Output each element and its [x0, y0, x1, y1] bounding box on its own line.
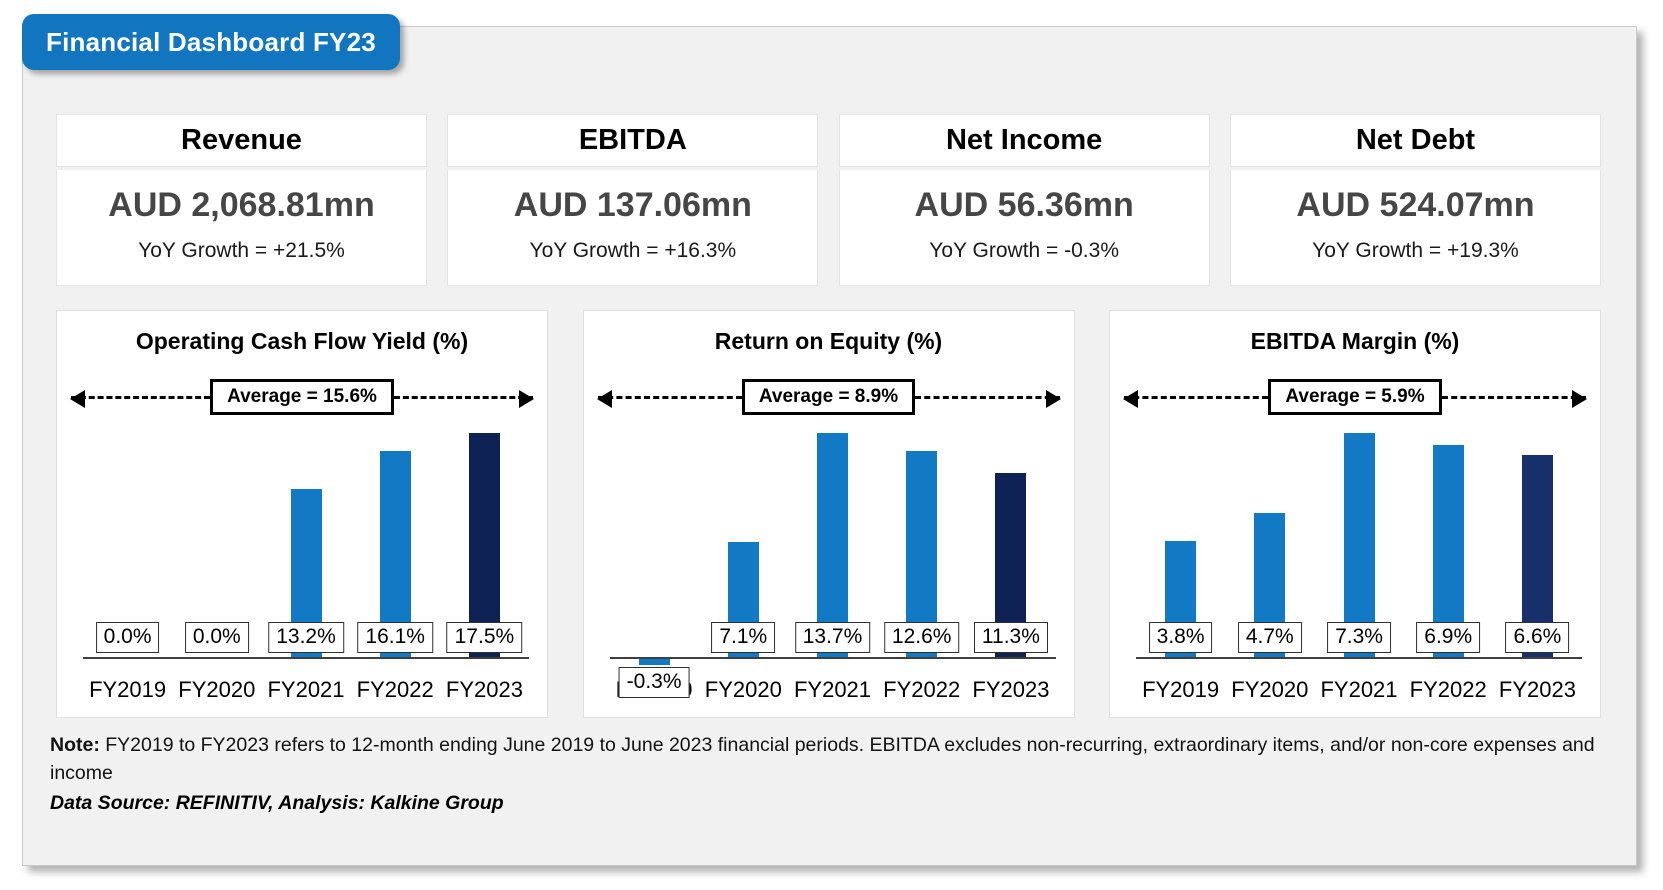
footnote-prefix: Note: — [50, 734, 100, 756]
average-line-right — [394, 396, 533, 399]
bar-value-label: 4.7% — [1238, 622, 1302, 653]
kpi-growth: YoY Growth = +21.5% — [138, 239, 345, 263]
kpi-title: Revenue — [181, 124, 302, 157]
x-axis-label: FY2023 — [966, 677, 1055, 703]
arrow-right-icon — [1572, 390, 1587, 408]
arrow-right-icon — [1046, 390, 1061, 408]
arrow-left-icon — [1123, 390, 1138, 408]
average-value-box: Average = 5.9% — [1268, 379, 1441, 415]
bar-value-label: 0.0% — [96, 622, 160, 653]
average-value-box: Average = 8.9% — [742, 379, 915, 415]
x-axis-label: FY2023 — [1493, 677, 1582, 703]
bar-slot: 17.5% — [440, 421, 529, 659]
chart-card: EBITDA Margin (%)Average = 5.9%3.8%4.7%7… — [1109, 310, 1601, 718]
kpi-growth: YoY Growth = -0.3% — [929, 239, 1119, 263]
kpi-header: Revenue — [56, 114, 427, 167]
average-annotation: Average = 15.6% — [71, 379, 533, 415]
bar — [639, 659, 670, 665]
kpi-title: EBITDA — [579, 124, 687, 157]
kpi-body: AUD 2,068.81mnYoY Growth = +21.5% — [56, 170, 427, 286]
x-axis-label: FY2022 — [1404, 677, 1493, 703]
kpi-title: Net Income — [946, 124, 1102, 157]
average-line-left — [71, 396, 210, 399]
footnote: Note: FY2019 to FY2023 refers to 12-mont… — [50, 732, 1610, 787]
kpi-card: RevenueAUD 2,068.81mnYoY Growth = +21.5% — [56, 114, 427, 286]
bar-slot: 7.3% — [1314, 421, 1403, 659]
chart-card-row: Operating Cash Flow Yield (%)Average = 1… — [56, 310, 1601, 718]
footnote-text: FY2019 to FY2023 refers to 12-month endi… — [50, 734, 1595, 784]
x-axis-label: FY2019 — [83, 677, 172, 703]
dashboard-root: Financial Dashboard FY23 RevenueAUD 2,06… — [0, 0, 1663, 890]
x-axis: FY2019FY2020FY2021FY2022FY2023 — [83, 677, 529, 703]
kpi-card-row: RevenueAUD 2,068.81mnYoY Growth = +21.5%… — [56, 114, 1601, 286]
average-line-left — [1124, 396, 1268, 399]
dashboard-title-tab: Financial Dashboard FY23 — [22, 14, 400, 70]
x-axis-label: FY2019 — [1136, 677, 1225, 703]
x-axis-label: FY2020 — [699, 677, 788, 703]
bar-value-label: 6.9% — [1416, 622, 1480, 653]
chart-title: Operating Cash Flow Yield (%) — [57, 328, 547, 355]
x-axis-label: FY2021 — [788, 677, 877, 703]
bar-value-label: 7.3% — [1327, 622, 1391, 653]
bar-slot: 0.0% — [83, 421, 172, 659]
zero-axis-line — [1136, 657, 1582, 659]
bar-slot: 7.1% — [699, 421, 788, 659]
bar-value-label: 12.6% — [884, 622, 960, 653]
x-axis-label: FY2022 — [351, 677, 440, 703]
bar-slot: 13.2% — [261, 421, 350, 659]
kpi-card: Net IncomeAUD 56.36mnYoY Growth = -0.3% — [839, 114, 1210, 286]
data-source-line: Data Source: REFINITIV, Analysis: Kalkin… — [50, 792, 1610, 815]
kpi-body: AUD 137.06mnYoY Growth = +16.3% — [447, 170, 818, 286]
kpi-value: AUD 56.36mn — [915, 186, 1134, 225]
x-axis: FY2019FY2020FY2021FY2022FY2023 — [1136, 677, 1582, 703]
kpi-value: AUD 137.06mn — [514, 186, 752, 225]
average-line-left — [598, 396, 742, 399]
average-value-box: Average = 15.6% — [210, 379, 394, 415]
bar-value-label: 17.5% — [447, 622, 523, 653]
bar-slot: 3.8% — [1136, 421, 1225, 659]
bar-value-label: 6.6% — [1505, 622, 1569, 653]
plot-area: 0.0%0.0%13.2%16.1%17.5% — [83, 421, 529, 659]
bar-value-label: 11.3% — [974, 622, 1048, 653]
bar-slot: 16.1% — [351, 421, 440, 659]
kpi-growth: YoY Growth = +19.3% — [1312, 239, 1519, 263]
x-axis-label: FY2023 — [440, 677, 529, 703]
arrow-left-icon — [597, 390, 612, 408]
bar-value-label: 3.8% — [1149, 622, 1213, 653]
bars-container: -0.3%7.1%13.7%12.6%11.3% — [610, 421, 1056, 659]
bar-value-label: -0.3% — [619, 667, 690, 698]
kpi-card: Net DebtAUD 524.07mnYoY Growth = +19.3% — [1230, 114, 1601, 286]
kpi-header: Net Debt — [1230, 114, 1601, 167]
average-line-right — [915, 396, 1059, 399]
x-axis-label: FY2021 — [1314, 677, 1403, 703]
kpi-value: AUD 2,068.81mn — [108, 186, 374, 225]
footer: Note: FY2019 to FY2023 refers to 12-mont… — [50, 732, 1610, 815]
kpi-card: EBITDAAUD 137.06mnYoY Growth = +16.3% — [447, 114, 818, 286]
bars-container: 3.8%4.7%7.3%6.9%6.6% — [1136, 421, 1582, 659]
x-axis-label: FY2021 — [261, 677, 350, 703]
bar-value-label: 0.0% — [185, 622, 249, 653]
bar-slot: 12.6% — [877, 421, 966, 659]
bar-value-label: 16.1% — [357, 622, 433, 653]
x-axis-label: FY2020 — [1225, 677, 1314, 703]
bar-value-label: 13.7% — [795, 622, 871, 653]
bar-slot: 6.9% — [1404, 421, 1493, 659]
kpi-header: Net Income — [839, 114, 1210, 167]
kpi-header: EBITDA — [447, 114, 818, 167]
plot-area: 3.8%4.7%7.3%6.9%6.6% — [1136, 421, 1582, 659]
chart-card: Return on Equity (%)Average = 8.9%-0.3%7… — [583, 310, 1075, 718]
chart-card: Operating Cash Flow Yield (%)Average = 1… — [56, 310, 548, 718]
kpi-body: AUD 524.07mnYoY Growth = +19.3% — [1230, 170, 1601, 286]
kpi-title: Net Debt — [1356, 124, 1475, 157]
page-title: Financial Dashboard FY23 — [46, 27, 376, 58]
x-axis-label: FY2020 — [172, 677, 261, 703]
bar-slot: 6.6% — [1493, 421, 1582, 659]
chart-title: Return on Equity (%) — [584, 328, 1074, 355]
chart-title: EBITDA Margin (%) — [1110, 328, 1600, 355]
zero-axis-line — [83, 657, 529, 659]
plot-area: -0.3%7.1%13.7%12.6%11.3% — [610, 421, 1056, 659]
bar-value-label: 13.2% — [268, 622, 344, 653]
average-line-right — [1442, 396, 1586, 399]
arrow-left-icon — [70, 390, 85, 408]
bar-slot: 11.3% — [966, 421, 1055, 659]
bars-container: 0.0%0.0%13.2%16.1%17.5% — [83, 421, 529, 659]
zero-axis-line — [610, 657, 1056, 659]
bar-slot: 13.7% — [788, 421, 877, 659]
arrow-right-icon — [519, 390, 534, 408]
average-annotation: Average = 5.9% — [1124, 379, 1586, 415]
bar-slot: 0.0% — [172, 421, 261, 659]
bar-slot: 4.7% — [1225, 421, 1314, 659]
bar-slot: -0.3% — [610, 421, 699, 659]
average-annotation: Average = 8.9% — [598, 379, 1060, 415]
kpi-growth: YoY Growth = +16.3% — [530, 239, 737, 263]
bar-value-label: 7.1% — [711, 622, 775, 653]
kpi-body: AUD 56.36mnYoY Growth = -0.3% — [839, 170, 1210, 286]
x-axis-label: FY2022 — [877, 677, 966, 703]
kpi-value: AUD 524.07mn — [1296, 186, 1534, 225]
